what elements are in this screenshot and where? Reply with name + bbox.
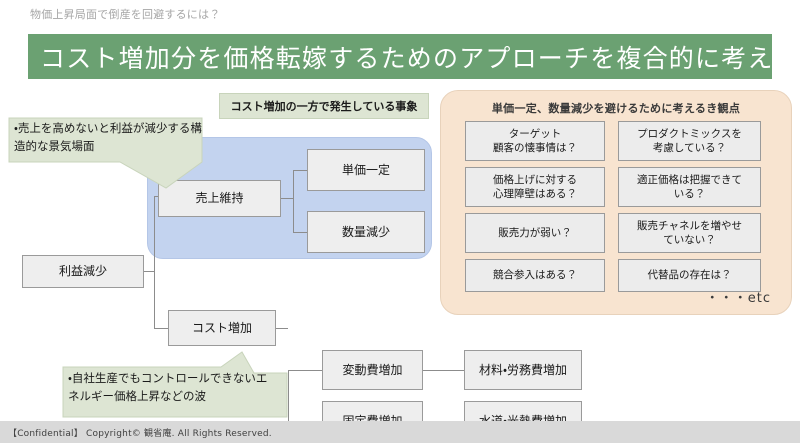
callout-sales-decline-text: ・売上を高めないと利益が減少する構造的な景気場面: [14, 120, 204, 156]
footer-text: 【Confidential】 Copyright© 観省庵. All Right…: [0, 426, 272, 439]
viewpoint-box-7[interactable]: 競合参入はある？: [465, 259, 605, 292]
viewpoint-box-5[interactable]: 販売力が弱い？: [465, 213, 605, 253]
viewpoint-box-4[interactable]: 適正価格は把握できている？: [618, 167, 761, 207]
slide-footer: 【Confidential】 Copyright© 観省庵. All Right…: [0, 421, 800, 443]
viewpoint-box-2[interactable]: プロダクトミックスを考慮している？: [618, 121, 761, 161]
connector-to-cost: [154, 328, 168, 329]
node-volume-decrease[interactable]: 数量減少: [307, 211, 425, 253]
viewpoint-box-3[interactable]: 価格上げに対する心理障壁はある？: [465, 167, 605, 207]
slide-subtitle: 物価上昇局面で倒産を回避するには？: [30, 6, 220, 22]
connector-sales-vertical: [293, 170, 294, 232]
viewpoints-panel: 単価一定、数量減少を避けるために考えるき観点 ターゲット顧客の懐事情は？ プロダ…: [440, 90, 792, 315]
viewpoint-box-6[interactable]: 販売チャネルを増やせていない？: [618, 213, 761, 253]
node-cost-increase[interactable]: コスト増加: [168, 310, 276, 346]
viewpoint-box-1[interactable]: ターゲット顧客の懐事情は？: [465, 121, 605, 161]
slide-canvas: 物価上昇局面で倒産を回避するには？ コスト増加分を価格転嫁するためのアプローチを…: [0, 0, 800, 443]
page-title: コスト増加分を価格転嫁するためのアプローチを複合的に考える: [28, 39, 799, 75]
callout-cost-event-label: コスト増加の一方で発生している事象: [219, 93, 429, 119]
connector-sales-right: [281, 198, 293, 199]
callout-energy-wave-text: ・自社生産でもコントロールできないエネルギー価格上昇などの波: [68, 370, 273, 406]
connector-cost-right: [276, 328, 288, 329]
node-material-labor-up[interactable]: 材料・労務費増加: [464, 350, 582, 390]
etc-label: ・・・etc: [706, 287, 771, 306]
connector-variable-to-material: [423, 370, 464, 371]
connector-to-volume: [293, 232, 307, 233]
node-variable-cost-up[interactable]: 変動費増加: [322, 350, 423, 390]
slide-title-bar: コスト増加分を価格転嫁するためのアプローチを複合的に考える: [28, 34, 772, 79]
node-unit-price-fixed[interactable]: 単価一定: [307, 149, 425, 191]
viewpoints-panel-title: 単価一定、数量減少を避けるために考えるき観点: [441, 100, 791, 116]
connector-to-unit-price: [293, 170, 307, 171]
